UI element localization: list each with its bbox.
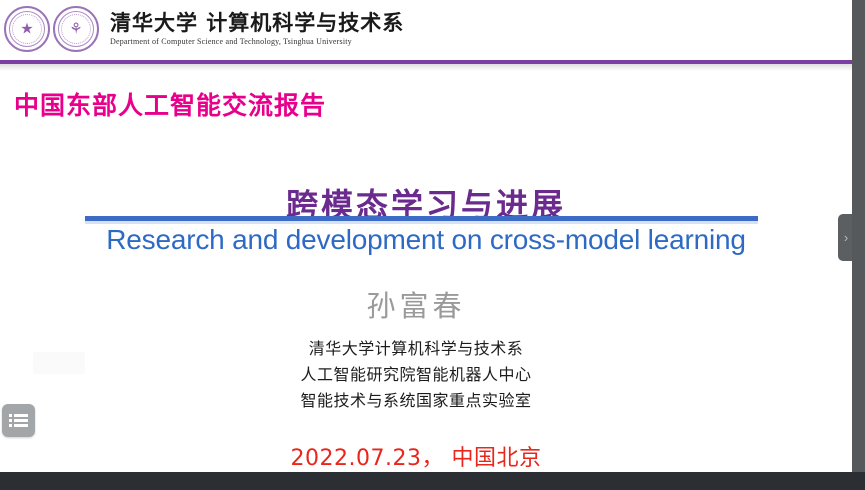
slide-canvas[interactable]: ★ ⚘ 清华大学 计算机科学与技术系 Department of Compute… [0, 0, 852, 472]
slide-title-en: Research and development on cross-model … [0, 224, 852, 256]
bottom-bar [0, 472, 865, 490]
presentation-viewer: ★ ⚘ 清华大学 计算机科学与技术系 Department of Compute… [0, 0, 865, 490]
affiliation-line: 清华大学计算机科学与技术系 [0, 336, 832, 362]
tsinghua-seal-icon: ★ [4, 6, 50, 52]
header-brand-row: ★ ⚘ 清华大学 计算机科学与技术系 Department of Compute… [0, 0, 852, 58]
event-banner-text: 中国东部人工智能交流报告 [14, 86, 326, 122]
header-divider-shadow [0, 64, 852, 71]
brand-title-en: Department of Computer Science and Techn… [110, 37, 404, 46]
brand-text-block: 清华大学 计算机科学与技术系 Department of Computer Sc… [110, 12, 404, 46]
list-menu-icon[interactable] [2, 404, 35, 437]
affiliation-list: 清华大学计算机科学与技术系 人工智能研究院智能机器人中心 智能技术与系统国家重点… [0, 336, 832, 414]
cs-department-seal-icon: ⚘ [53, 6, 99, 52]
seal-lamp-glyph: ⚘ [55, 22, 97, 37]
list-menu-glyph [9, 413, 28, 428]
seal-star-glyph: ★ [6, 22, 48, 37]
presenter-name: 孙富春 [0, 283, 832, 325]
affiliation-line: 智能技术与系统国家重点实验室 [0, 388, 832, 414]
affiliation-line: 人工智能研究院智能机器人中心 [0, 362, 832, 388]
brand-title-cn: 清华大学 计算机科学与技术系 [110, 12, 404, 34]
right-gutter [852, 0, 865, 490]
date-location-text: 2022.07.23， 中国北京 [0, 440, 832, 472]
